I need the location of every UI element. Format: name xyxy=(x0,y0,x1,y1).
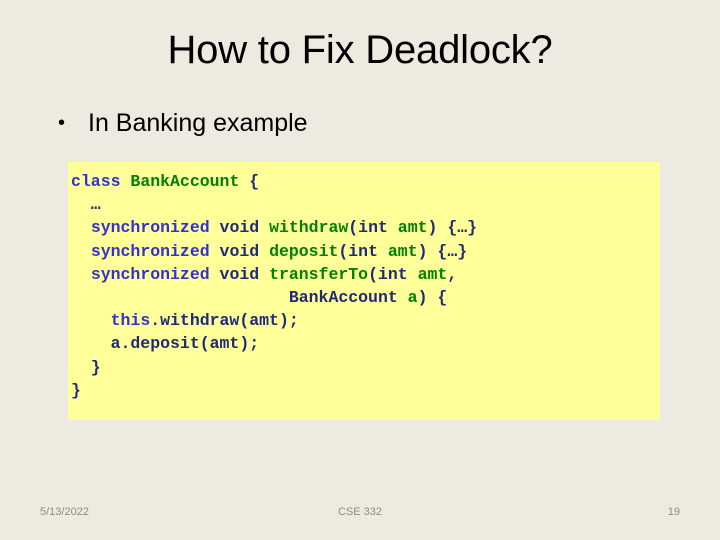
code-token: amt xyxy=(398,218,428,237)
code-token: void xyxy=(210,265,269,284)
code-token: withdraw xyxy=(269,218,348,237)
code-token: amt xyxy=(388,242,418,261)
code-token: deposit xyxy=(269,242,338,261)
code-token: transferTo xyxy=(269,265,368,284)
footer-page-number: 19 xyxy=(668,506,680,518)
code-line: … xyxy=(71,193,660,216)
code-token: void xyxy=(210,218,269,237)
code-token: { xyxy=(239,172,259,191)
code-token: a xyxy=(408,288,418,307)
code-token xyxy=(71,311,111,330)
code-token: ) {…} xyxy=(428,218,478,237)
code-token: synchronized xyxy=(91,218,210,237)
code-token: (int xyxy=(348,218,398,237)
code-line: this.withdraw(amt); xyxy=(71,309,660,332)
code-token: , xyxy=(447,265,457,284)
footer-course-label: CSE 332 xyxy=(0,506,720,518)
code-token: synchronized xyxy=(91,242,210,261)
code-block-panel: class BankAccount { … synchronized void … xyxy=(68,162,660,420)
code-line: a.deposit(amt); xyxy=(71,332,660,355)
code-token xyxy=(71,218,91,237)
code-token: (int xyxy=(338,242,388,261)
code-token: class xyxy=(71,172,121,191)
code-token: … xyxy=(71,195,101,214)
code-token: ) {…} xyxy=(418,242,468,261)
code-line: synchronized void withdraw(int amt) {…} xyxy=(71,216,660,239)
slide-footer: 5/13/2022 CSE 332 19 xyxy=(0,506,720,526)
code-token: BankAccount xyxy=(71,288,408,307)
code-lines: class BankAccount { … synchronized void … xyxy=(68,170,660,402)
code-line: synchronized void deposit(int amt) {…} xyxy=(71,240,660,263)
code-token xyxy=(121,172,131,191)
code-token: synchronized xyxy=(91,265,210,284)
code-line: BankAccount a) { xyxy=(71,286,660,309)
code-token: amt xyxy=(418,265,448,284)
code-token: a.deposit(amt); xyxy=(71,334,259,353)
code-line: } xyxy=(71,379,660,402)
bullet-list: • In Banking example xyxy=(58,106,678,140)
code-token: ) { xyxy=(418,288,448,307)
code-token xyxy=(71,265,91,284)
code-token: this xyxy=(111,311,151,330)
bullet-item-label: In Banking example xyxy=(88,106,308,140)
code-token: (int xyxy=(368,265,418,284)
code-token xyxy=(71,242,91,261)
list-item: • In Banking example xyxy=(58,106,678,140)
bullet-dot-icon: • xyxy=(58,106,88,140)
code-token: } xyxy=(71,381,81,400)
slide-canvas: How to Fix Deadlock? • In Banking exampl… xyxy=(0,0,720,540)
code-line: } xyxy=(71,356,660,379)
code-token: void xyxy=(210,242,269,261)
code-token: } xyxy=(71,358,101,377)
code-line: class BankAccount { xyxy=(71,170,660,193)
code-line: synchronized void transferTo(int amt, xyxy=(71,263,660,286)
code-token: BankAccount xyxy=(130,172,239,191)
page-title: How to Fix Deadlock? xyxy=(0,26,720,74)
code-token: .withdraw(amt); xyxy=(150,311,299,330)
